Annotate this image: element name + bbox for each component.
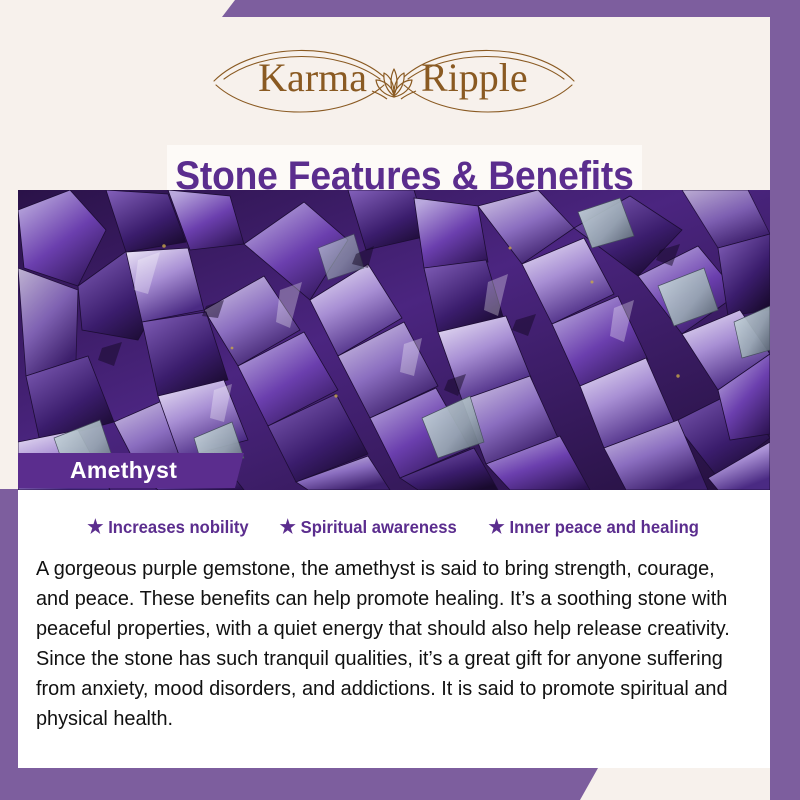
stone-photo [18,190,770,490]
benefit-label: Increases nobility [108,517,248,538]
description-panel: ★ Increases nobility ★ Spiritual awarene… [18,490,770,768]
star-icon: ★ [280,518,296,537]
frame-accent-top [222,0,800,17]
benefit-item: ★ Increases nobility [87,517,248,538]
frame-accent-bottom [0,768,598,800]
benefit-item: ★ Inner peace and healing [489,517,699,538]
star-icon: ★ [87,518,103,537]
content-card: Karma Ripple Stone Features & Benefits [18,17,770,768]
benefits-list: ★ Increases nobility ★ Spiritual awarene… [18,517,770,538]
frame-accent-right [770,0,800,800]
infographic-page: Karma Ripple Stone Features & Benefits [0,0,800,800]
brand-logo: Karma Ripple [184,33,604,129]
brand-name-left: Karma [258,55,367,100]
frame-accent-left [0,489,18,800]
stone-description: A gorgeous purple gemstone, the amethyst… [36,554,731,734]
benefit-label: Spiritual awareness [301,517,457,538]
benefit-item: ★ Spiritual awareness [280,517,457,538]
stone-name-banner: Amethyst [18,453,244,488]
benefit-label: Inner peace and healing [510,517,699,538]
star-icon: ★ [489,518,505,537]
stone-name: Amethyst [70,457,177,484]
brand-name-right: Ripple [421,55,528,100]
